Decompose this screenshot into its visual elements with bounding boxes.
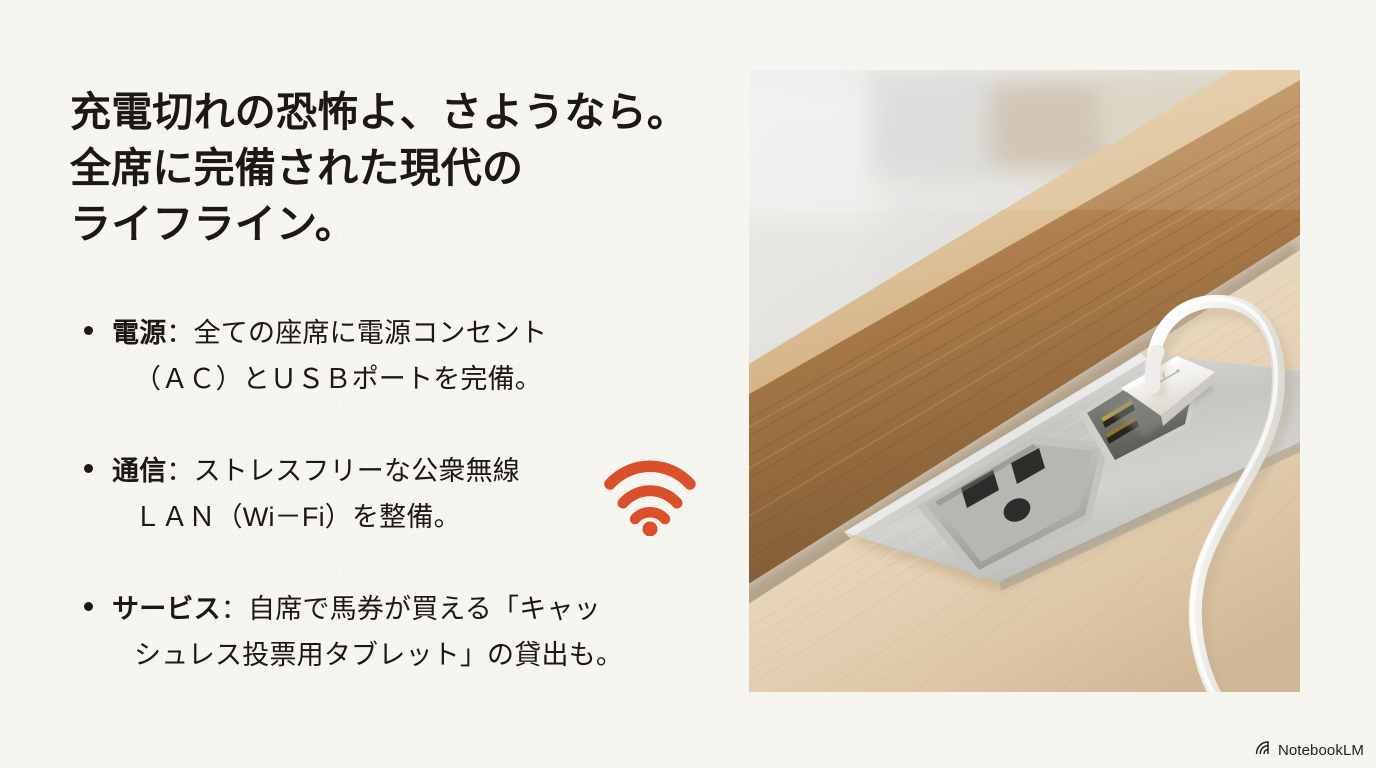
slide-canvas: 充電切れの恐怖よ、さようなら。 全席に完備された現代の ライフライン。 電源：全… — [0, 0, 1376, 768]
notebooklm-watermark: NotebookLM — [1255, 740, 1364, 760]
bullet-dot-icon — [84, 602, 93, 611]
list-item: サービス：自席で馬券が買える「キャッ シュレス投票用タブレット」の貸出も。 — [78, 586, 718, 678]
headline-line-3: ライフライン。 — [70, 196, 730, 252]
headline-line-1: 充電切れの恐怖よ、さようなら。 — [70, 84, 730, 140]
bullet-separator: ： — [166, 318, 193, 348]
bullet-label: 通信 — [112, 456, 166, 486]
list-item: 電源：全ての座席に電源コンセント （ＡＣ）とＵＳＢポートを完備。 — [78, 310, 718, 402]
bullet-dot-icon — [84, 326, 93, 335]
bullet-text-line-2: シュレス投票用タブレット」の貸出も。 — [112, 632, 718, 678]
bullet-label: 電源 — [112, 318, 166, 348]
bullet-label: サービス — [112, 594, 221, 624]
bullet-content: サービス：自席で馬券が買える「キャッ シュレス投票用タブレット」の貸出も。 — [112, 586, 718, 678]
bullet-text-line-1: 全ての座席に電源コンセント — [194, 318, 548, 348]
bullet-text-line-1: 自席で馬券が買える「キャッ — [248, 594, 601, 624]
bullet-dot-icon — [84, 464, 93, 473]
page-title: 充電切れの恐怖よ、さようなら。 全席に完備された現代の ライフライン。 — [70, 84, 730, 252]
bullet-text-line-2: （ＡＣ）とＵＳＢポートを完備。 — [112, 356, 718, 402]
headline-line-2: 全席に完備された現代の — [70, 140, 730, 196]
notebooklm-label: NotebookLM — [1278, 742, 1364, 759]
desk-power-outlet-photo — [749, 70, 1300, 692]
wifi-icon — [604, 458, 696, 536]
bullet-separator: ： — [166, 456, 193, 486]
bullet-content: 電源：全ての座席に電源コンセント （ＡＣ）とＵＳＢポートを完備。 — [112, 310, 718, 402]
notebooklm-spiral-icon — [1255, 740, 1272, 760]
bullet-text-line-1: ストレスフリーな公衆無線 — [194, 456, 520, 486]
bullet-separator: ： — [221, 594, 248, 624]
